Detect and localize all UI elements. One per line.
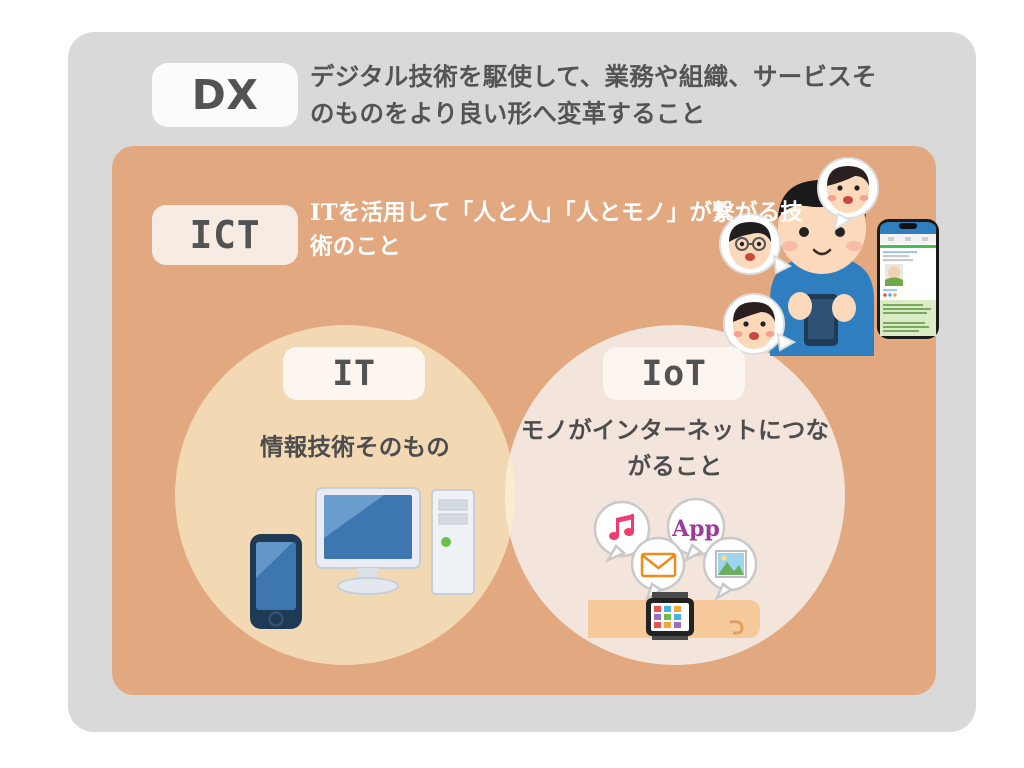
dx-description: デジタル技術を駆使して、業務や組織、サービスそのものをより良い形へ変革すること: [310, 58, 890, 132]
ict-description: ITを活用して「人と人」「人とモノ」が繋がる技術のこと: [310, 196, 810, 264]
photo-bubble-icon: [704, 538, 756, 598]
smartwatch-on-wrist-icon: [588, 592, 760, 640]
diagram-canvas: DX デジタル技術を駆使して、業務や組織、サービスそのものをより良い形へ変革する…: [0, 0, 1024, 768]
desktop-monitor-icon: [316, 488, 420, 594]
it-devices-illustration: [232, 476, 482, 636]
iot-badge: IoT: [603, 347, 745, 400]
pc-tower-icon: [432, 490, 474, 594]
it-badge: IT: [283, 347, 425, 400]
it-description: 情報技術そのもの: [175, 430, 535, 466]
smartphone-icon: [250, 534, 302, 629]
smartphone-messaging-app-mock: [876, 218, 940, 340]
iot-illustration: App: [580, 494, 770, 639]
ict-badge: ICT: [152, 205, 298, 265]
dx-badge: DX: [152, 63, 298, 127]
iot-description: モノがインターネットにつながること: [520, 413, 830, 484]
envelope-bubble-icon: [632, 538, 684, 599]
svg-text:App: App: [671, 516, 720, 542]
